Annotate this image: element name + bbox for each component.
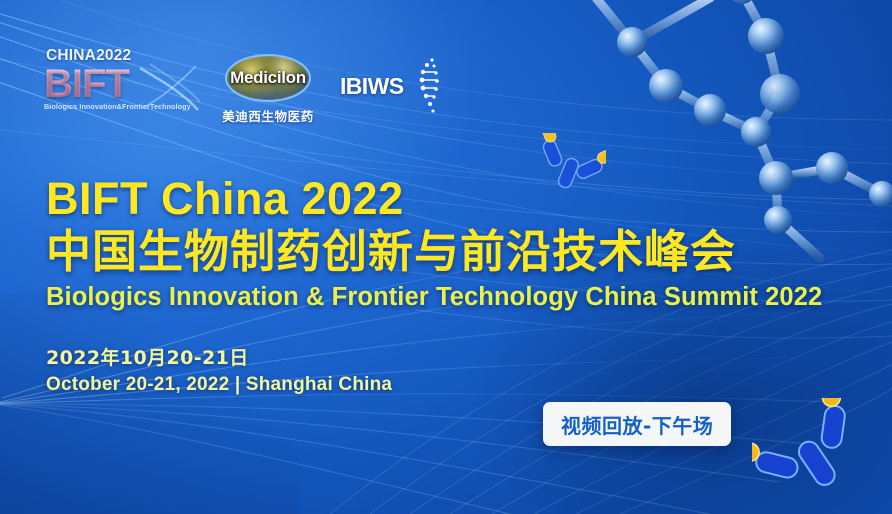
event-date-english: October 20-21, 2022 | Shanghai China (46, 372, 392, 398)
logo-strip: CHINA2022 BIFT Biologics Innovation&Fron… (44, 48, 440, 130)
medicilon-oval-mark: Medicilon (225, 54, 311, 102)
bift-logo-acronym: BIFT (44, 65, 196, 103)
video-replay-label: 视频回放-下午场 (561, 410, 713, 439)
event-subtitle-english: Biologics Innovation & Frontier Technolo… (46, 283, 822, 311)
event-date-chinese: 2022年10月20-21日 (46, 346, 392, 372)
dna-helix-icon (406, 57, 440, 115)
ibiws-logo[interactable]: IBIWS (340, 57, 440, 115)
ibiws-wordmark: IBIWS (340, 73, 403, 100)
medicilon-wordmark: Medicilon (230, 68, 306, 88)
event-banner: CHINA2022 BIFT Biologics Innovation&Fron… (0, 0, 892, 514)
video-replay-button[interactable]: 视频回放-下午场 (543, 402, 731, 446)
headline-block: BIFT China 2022 中国生物制药创新与前沿技术峰会 Biologic… (46, 176, 822, 311)
bift-logo[interactable]: CHINA2022 BIFT Biologics Innovation&Fron… (44, 48, 196, 130)
event-dates-block: 2022年10月20-21日 October 20-21, 2022 | Sha… (46, 346, 392, 397)
bift-logo-tagline: Biologics Innovation&FrontierTechnology (44, 102, 196, 111)
medicilon-chinese-name: 美迪西生物医药 (222, 106, 314, 125)
event-title-english: BIFT China 2022 (46, 176, 822, 222)
event-title-chinese: 中国生物制药创新与前沿技术峰会 (46, 228, 822, 276)
medicilon-logo[interactable]: Medicilon 美迪西生物医药 (222, 54, 314, 125)
